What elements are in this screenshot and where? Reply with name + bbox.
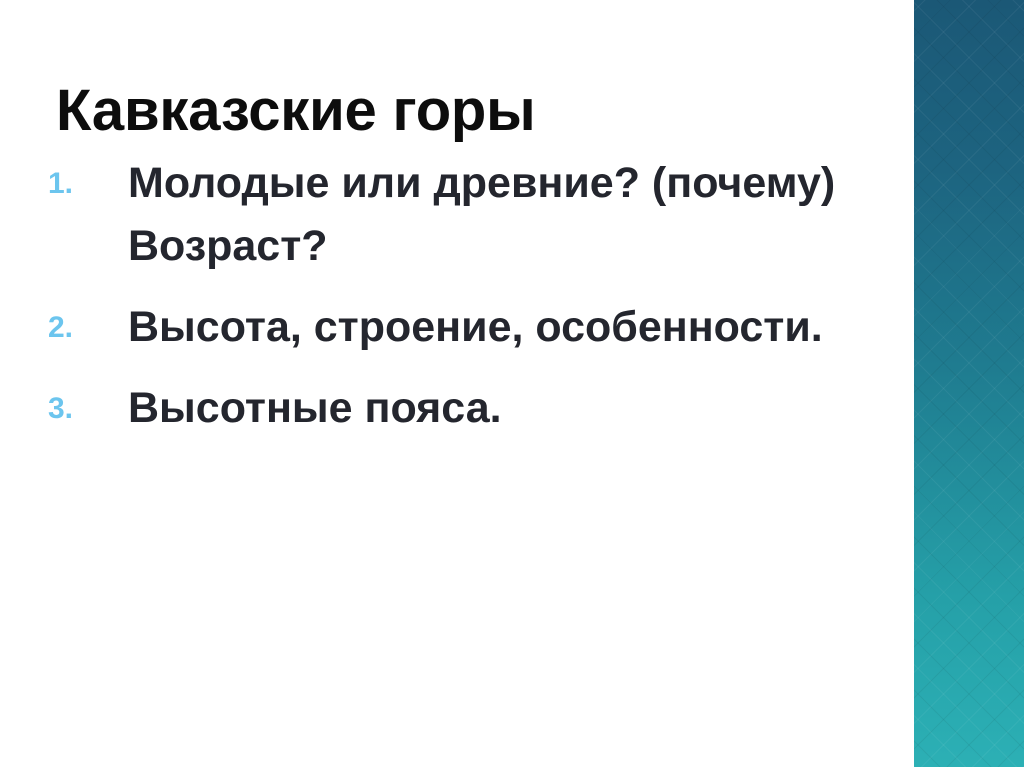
list-item: 3. Высотные пояса. — [44, 377, 874, 440]
list-marker-1: 1. — [48, 152, 100, 215]
list-marker-2: 2. — [48, 296, 100, 359]
list-item: 1. Молодые или древние? (почему) Возраст… — [44, 152, 874, 278]
decorative-side-band — [914, 0, 1024, 767]
list-item-text-1: Молодые или древние? (почему) Возраст? — [128, 152, 874, 278]
list-item-text-3: Высотные пояса. — [128, 377, 874, 440]
list-marker-3: 3. — [48, 377, 100, 440]
list-item: 2. Высота, строение, особенности. — [44, 296, 874, 359]
numbered-list: 1. Молодые или древние? (почему) Возраст… — [44, 152, 874, 440]
page-title: Кавказские горы — [56, 81, 876, 142]
presentation-slide: Кавказские горы 1. Молодые или древние? … — [0, 0, 1024, 767]
list-item-text-2: Высота, строение, особенности. — [128, 296, 874, 359]
